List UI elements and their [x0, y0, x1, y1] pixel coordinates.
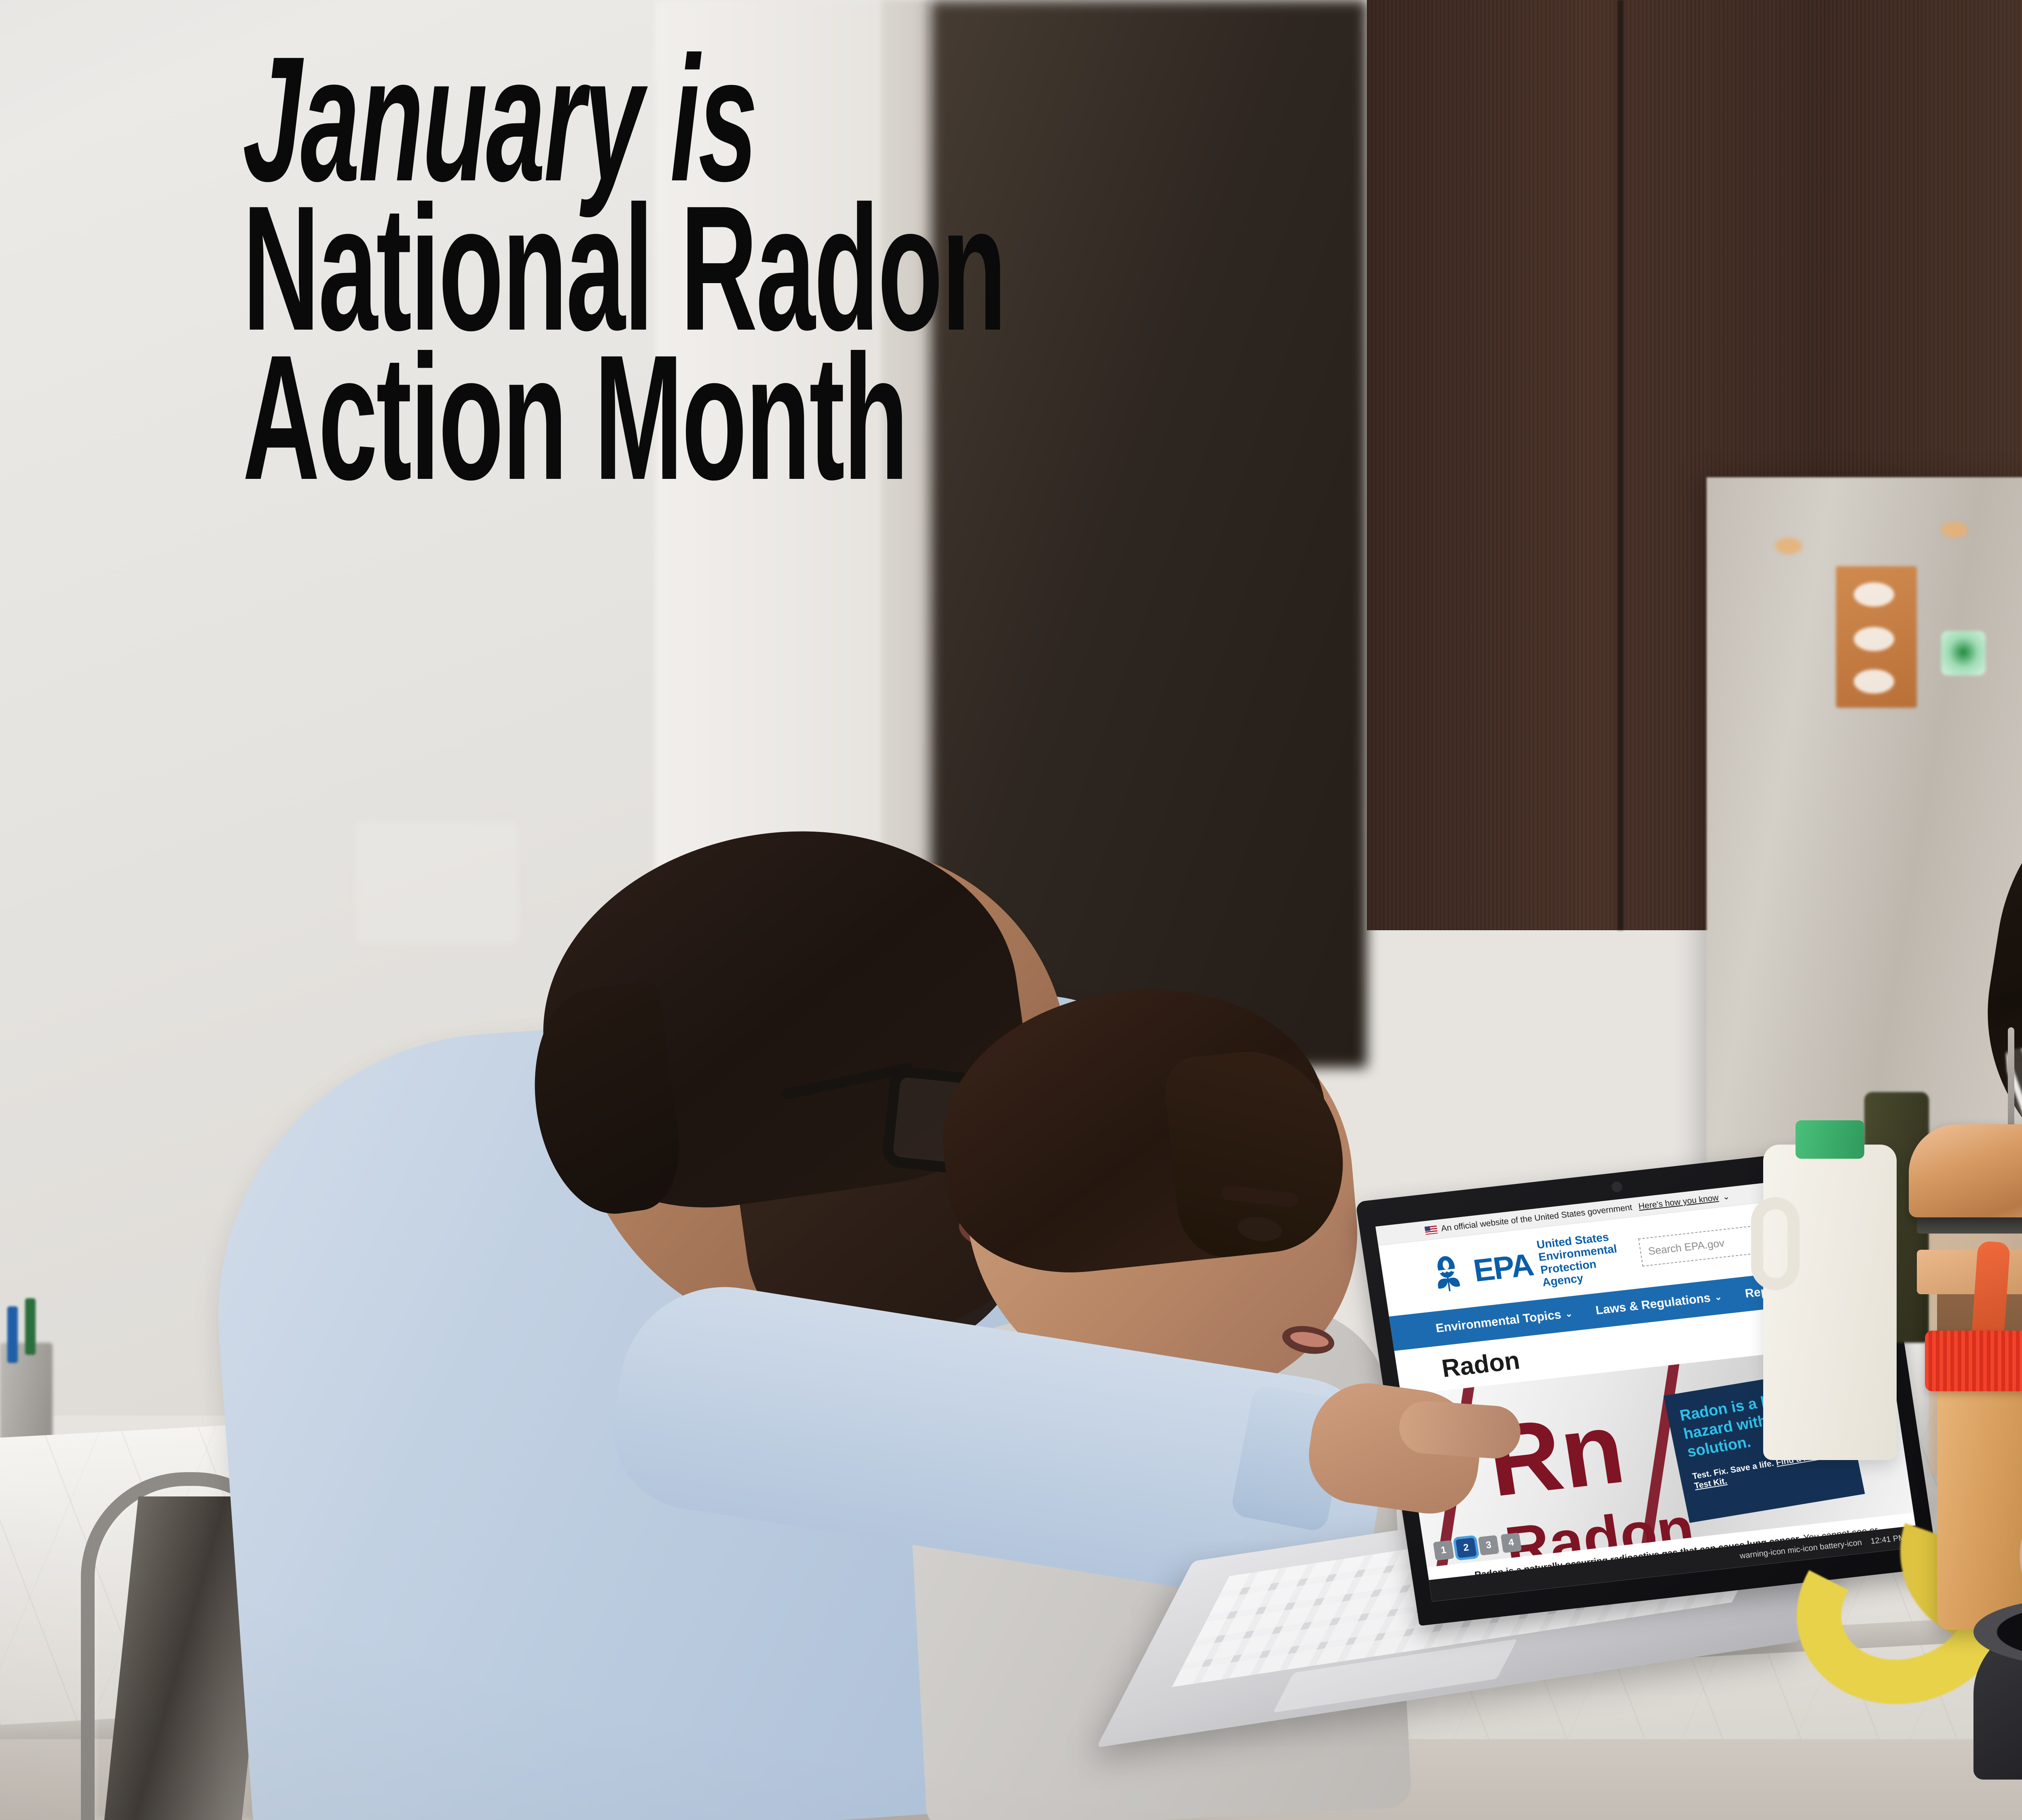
epa-site-tagline: United States Environmental Protection A… [1536, 1227, 1644, 1289]
fridge-magnet-green [1941, 631, 1986, 675]
light-switch-plate [352, 817, 522, 946]
nav-item-laws-regulations[interactable]: Laws & Regulations ⌄ [1595, 1290, 1723, 1318]
headline-line-3: Action Month [243, 335, 1237, 500]
epa-site-logo[interactable]: EPA United States Environmental Protecti… [1424, 1227, 1644, 1302]
page-title: Radon [1440, 1346, 1521, 1384]
milk-jug [1763, 1145, 1897, 1460]
us-flag-icon [1425, 1225, 1438, 1234]
chevron-down-icon: ⌄ [1714, 1292, 1723, 1303]
chevron-down-icon[interactable]: ⌄ [1722, 1191, 1730, 1202]
carousel-dot-1[interactable]: 1 [1433, 1540, 1455, 1561]
poster-headline: January is National Radon Action Month [243, 36, 1901, 501]
webcam-icon [1611, 1181, 1623, 1193]
carousel-dot-4[interactable]: 4 [1501, 1533, 1522, 1553]
peanut-butter-jar [1937, 1379, 2022, 1630]
carousel-dot-3[interactable]: 3 [1478, 1535, 1500, 1556]
carousel-dot-2[interactable]: 2 [1455, 1538, 1477, 1558]
french-press-copper-lid [1909, 1124, 2022, 1217]
pen [7, 1306, 18, 1363]
milk-jug-cap [1796, 1120, 1864, 1159]
nav-item-environmental-topics[interactable]: Environmental Topics ⌄ [1435, 1307, 1574, 1336]
epa-site-wordmark: EPA [1472, 1252, 1534, 1284]
peanut-butter-red-cap [1925, 1331, 2022, 1391]
pen [25, 1298, 36, 1355]
fridge-magnet-dot [1775, 538, 1802, 554]
epa-flower-seal-icon [1425, 1253, 1470, 1295]
milk-jug-handle [1751, 1197, 1800, 1290]
fridge-magnet-orange [1836, 566, 1917, 708]
poster-canvas: An official website of the United States… [0, 0, 2022, 1820]
fridge-magnet-dot [1941, 522, 1968, 538]
french-press-plunger-rod [2008, 1027, 2014, 1141]
chevron-down-icon: ⌄ [1564, 1308, 1573, 1320]
father-pointing-finger [1398, 1399, 1522, 1460]
